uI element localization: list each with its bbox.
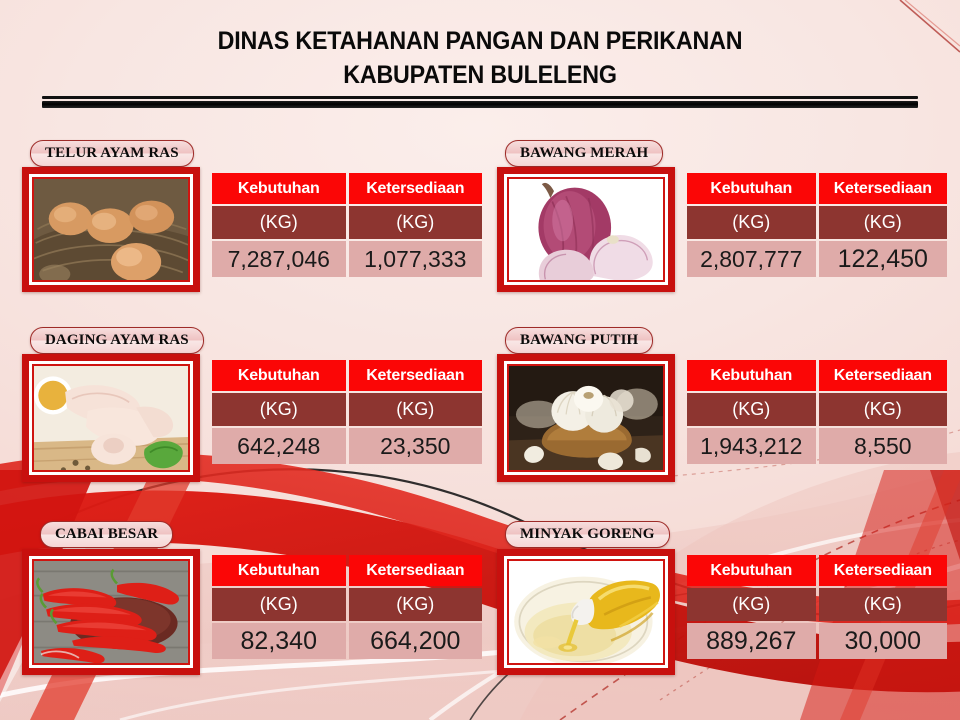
value-ketersediaan: 1,077,333 — [349, 241, 483, 277]
unit-ketersediaan: (KG) — [349, 206, 483, 239]
card-daging-ayam-ras: DAGING AYAM RAS — [22, 327, 482, 487]
eggs-in-nest-photo — [34, 179, 188, 282]
card-bawang-putih: BAWANG PUTIH — [497, 327, 947, 487]
card-photo-frame-cabai-besar — [22, 549, 200, 675]
header-kebutuhan: Kebutuhan — [687, 555, 816, 586]
title-line-1: DINAS KETAHANAN PANGAN DAN PERIKANAN — [34, 24, 927, 58]
card-photo-frame-telur-ayam-ras — [22, 167, 200, 292]
unit-ketersediaan: (KG) — [349, 588, 483, 621]
cooking-oil-pouring-photo — [509, 561, 663, 665]
red-shallot-onion-photo — [509, 179, 663, 282]
header-ketersediaan: Ketersediaan — [819, 555, 948, 586]
table-header-row: Kebutuhan Ketersediaan — [687, 555, 947, 586]
table-value-row: 1,943,212 8,550 — [687, 428, 947, 464]
value-kebutuhan: 82,340 — [212, 623, 346, 659]
header-kebutuhan: Kebutuhan — [687, 360, 816, 391]
card-label-minyak-goreng: MINYAK GORENG — [505, 521, 670, 548]
card-photo-frame-daging-ayam-ras — [22, 354, 200, 482]
table-value-row: 2,807,777 122,450 — [687, 241, 947, 277]
card-table-daging-ayam-ras: Kebutuhan Ketersediaan (KG) (KG) 642,248… — [212, 360, 482, 464]
table-value-row: 7,287,046 1,077,333 — [212, 241, 482, 277]
unit-kebutuhan: (KG) — [687, 393, 816, 426]
value-kebutuhan: 1,943,212 — [687, 428, 816, 464]
table-header-row: Kebutuhan Ketersediaan — [212, 173, 482, 204]
card-label-bawang-merah: BAWANG MERAH — [505, 140, 663, 167]
table-unit-row: (KG) (KG) — [212, 393, 482, 426]
card-table-bawang-merah: Kebutuhan Ketersediaan (KG) (KG) 2,807,7… — [687, 173, 947, 277]
value-ketersediaan: 30,000 — [819, 623, 948, 659]
table-unit-row: (KG) (KG) — [212, 206, 482, 239]
unit-kebutuhan: (KG) — [687, 206, 816, 239]
unit-kebutuhan: (KG) — [212, 588, 346, 621]
header-ketersediaan: Ketersediaan — [819, 173, 948, 204]
header-kebutuhan: Kebutuhan — [212, 173, 346, 204]
table-unit-row: (KG) (KG) — [687, 393, 947, 426]
card-table-telur-ayam-ras: Kebutuhan Ketersediaan (KG) (KG) 7,287,0… — [212, 173, 482, 277]
value-ketersediaan: 122,450 — [819, 241, 948, 277]
table-unit-row: (KG) (KG) — [687, 588, 947, 621]
card-cabai-besar: CABAI BESAR — [22, 521, 482, 681]
header-ketersediaan: Ketersediaan — [349, 173, 483, 204]
unit-ketersediaan: (KG) — [349, 393, 483, 426]
table-header-row: Kebutuhan Ketersediaan — [212, 555, 482, 586]
header-kebutuhan: Kebutuhan — [687, 173, 816, 204]
value-kebutuhan: 889,267 — [687, 623, 816, 659]
card-photo-frame-minyak-goreng — [497, 549, 675, 675]
slide-canvas: DINAS KETAHANAN PANGAN DAN PERIKANAN KAB… — [0, 0, 960, 720]
card-bawang-merah: BAWANG MERAH — [497, 140, 947, 300]
divider-thick-rule — [42, 101, 918, 108]
card-photo-frame-bawang-putih — [497, 354, 675, 482]
title-divider — [42, 96, 918, 108]
table-value-row: 82,340 664,200 — [212, 623, 482, 659]
table-unit-row: (KG) (KG) — [687, 206, 947, 239]
table-header-row: Kebutuhan Ketersediaan — [212, 360, 482, 391]
unit-kebutuhan: (KG) — [212, 206, 346, 239]
table-value-row: 889,267 30,000 — [687, 623, 947, 659]
card-label-daging-ayam-ras: DAGING AYAM RAS — [30, 327, 204, 354]
raw-chicken-meat-photo — [34, 366, 188, 472]
title-line-2: KABUPATEN BULELENG — [34, 58, 927, 92]
unit-ketersediaan: (KG) — [819, 206, 948, 239]
header-ketersediaan: Ketersediaan — [819, 360, 948, 391]
unit-ketersediaan: (KG) — [819, 588, 948, 621]
card-label-telur-ayam-ras: TELUR AYAM RAS — [30, 140, 194, 167]
value-ketersediaan: 23,350 — [349, 428, 483, 464]
value-kebutuhan: 2,807,777 — [687, 241, 816, 277]
table-header-row: Kebutuhan Ketersediaan — [687, 173, 947, 204]
unit-kebutuhan: (KG) — [687, 588, 816, 621]
red-chili-peppers-photo — [34, 561, 188, 665]
table-value-row: 642,248 23,350 — [212, 428, 482, 464]
value-ketersediaan: 8,550 — [819, 428, 948, 464]
value-kebutuhan: 642,248 — [212, 428, 346, 464]
value-ketersediaan: 664,200 — [349, 623, 483, 659]
header-ketersediaan: Ketersediaan — [349, 360, 483, 391]
header-kebutuhan: Kebutuhan — [212, 360, 346, 391]
card-label-bawang-putih: BAWANG PUTIH — [505, 327, 653, 354]
card-minyak-goreng: MINYAK GORENG — [497, 521, 947, 681]
value-kebutuhan: 7,287,046 — [212, 241, 346, 277]
header-kebutuhan: Kebutuhan — [212, 555, 346, 586]
card-table-bawang-putih: Kebutuhan Ketersediaan (KG) (KG) 1,943,2… — [687, 360, 947, 464]
card-photo-frame-bawang-merah — [497, 167, 675, 292]
unit-ketersediaan: (KG) — [819, 393, 948, 426]
card-label-cabai-besar: CABAI BESAR — [40, 521, 173, 548]
garlic-bulbs-bowl-photo — [509, 366, 663, 472]
table-header-row: Kebutuhan Ketersediaan — [687, 360, 947, 391]
page-title: DINAS KETAHANAN PANGAN DAN PERIKANAN KAB… — [0, 24, 960, 92]
card-table-minyak-goreng: Kebutuhan Ketersediaan (KG) (KG) 889,267… — [687, 555, 947, 659]
table-unit-row: (KG) (KG) — [212, 588, 482, 621]
card-telur-ayam-ras: TELUR AYAM RAS — [22, 140, 482, 300]
unit-kebutuhan: (KG) — [212, 393, 346, 426]
card-table-cabai-besar: Kebutuhan Ketersediaan (KG) (KG) 82,340 … — [212, 555, 482, 659]
header-ketersediaan: Ketersediaan — [349, 555, 483, 586]
